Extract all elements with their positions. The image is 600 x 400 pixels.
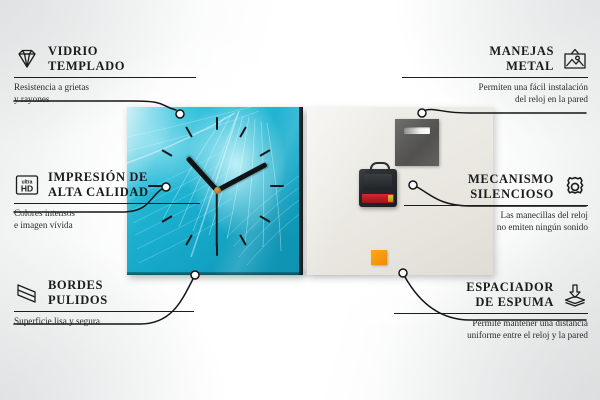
feature-description: Colores intensos e imagen vívida — [14, 208, 200, 231]
clock-center-hub — [214, 187, 221, 194]
feature-title: BORDES PULIDOS — [48, 278, 108, 307]
feature-divider — [404, 205, 588, 206]
feature-title: VIDRIO TEMPLADO — [48, 44, 125, 73]
tick-1 — [239, 126, 247, 137]
feature-divider — [14, 311, 194, 312]
battery-compartment — [362, 194, 394, 203]
feature-header: BORDES PULIDOS — [14, 278, 194, 307]
foam-spacer-icon — [562, 283, 588, 307]
svg-text:HD: HD — [21, 183, 33, 193]
feature-description: Resistencia a grietas y rayones — [14, 82, 196, 105]
gear-icon — [562, 175, 588, 199]
feature-divider — [14, 77, 196, 78]
hanger-slot — [404, 127, 430, 134]
feature-description: Permite mantener una distancia uniforme … — [394, 318, 588, 341]
polished-edges-icon — [14, 281, 40, 305]
feature-manejas-metal: MANEJAS METAL Permiten una fácil instala… — [402, 44, 588, 105]
feature-title: MANEJAS METAL — [489, 44, 554, 73]
product-infographic: VIDRIO TEMPLADO Resistencia a grietas y … — [0, 0, 600, 400]
ultra-hd-icon: ultra HD — [14, 173, 40, 197]
panel-right-edge — [299, 107, 303, 275]
tick-12 — [216, 117, 218, 130]
tick-10 — [161, 149, 172, 157]
mechanism-hanging-loop — [370, 162, 390, 173]
clock-second-hand — [216, 191, 218, 248]
feature-title: MECANISMO SILENCIOSO — [468, 172, 554, 201]
feature-bordes-pulidos: BORDES PULIDOS Superficie lisa y segura — [14, 278, 194, 328]
feature-espaciador-de-espuma: ESPACIADOR DE ESPUMA Permite mantener un… — [394, 280, 588, 341]
feature-divider — [394, 313, 588, 314]
tick-4 — [259, 215, 270, 223]
tick-2 — [259, 149, 270, 157]
feature-header: MECANISMO SILENCIOSO — [404, 172, 588, 201]
feature-impresion-alta-calidad: ultra HD IMPRESIÓN DE ALTA CALIDAD Color… — [14, 170, 200, 231]
tick-11 — [185, 126, 193, 137]
feature-header: ESPACIADOR DE ESPUMA — [394, 280, 588, 309]
feature-title: IMPRESIÓN DE ALTA CALIDAD — [48, 170, 149, 199]
mechanism-body — [364, 174, 392, 190]
feature-description: Permiten una fácil instalación del reloj… — [402, 82, 588, 105]
tick-5 — [239, 234, 247, 245]
diamond-icon — [14, 47, 40, 71]
feature-vidrio-templado: VIDRIO TEMPLADO Resistencia a grietas y … — [14, 44, 196, 105]
feature-divider — [402, 77, 588, 78]
tick-3 — [270, 185, 284, 187]
foam-spacer-pad — [371, 250, 387, 265]
panel-bottom-edge — [127, 272, 303, 275]
feature-description: Las manecillas del reloj no emiten ningú… — [404, 210, 588, 233]
feature-header: VIDRIO TEMPLADO — [14, 44, 196, 73]
clock-mechanism — [359, 169, 397, 207]
feature-header: ultra HD IMPRESIÓN DE ALTA CALIDAD — [14, 170, 200, 199]
tick-7 — [185, 234, 193, 245]
feature-divider — [14, 203, 200, 204]
feature-header: MANEJAS METAL — [402, 44, 588, 73]
picture-hanger-icon — [562, 47, 588, 71]
feature-mecanismo-silencioso: MECANISMO SILENCIOSO Las manecillas del … — [404, 172, 588, 233]
metal-hanger-plate — [395, 119, 439, 166]
feature-description: Superficie lisa y segura — [14, 316, 194, 327]
feature-title: ESPACIADOR DE ESPUMA — [466, 280, 554, 309]
